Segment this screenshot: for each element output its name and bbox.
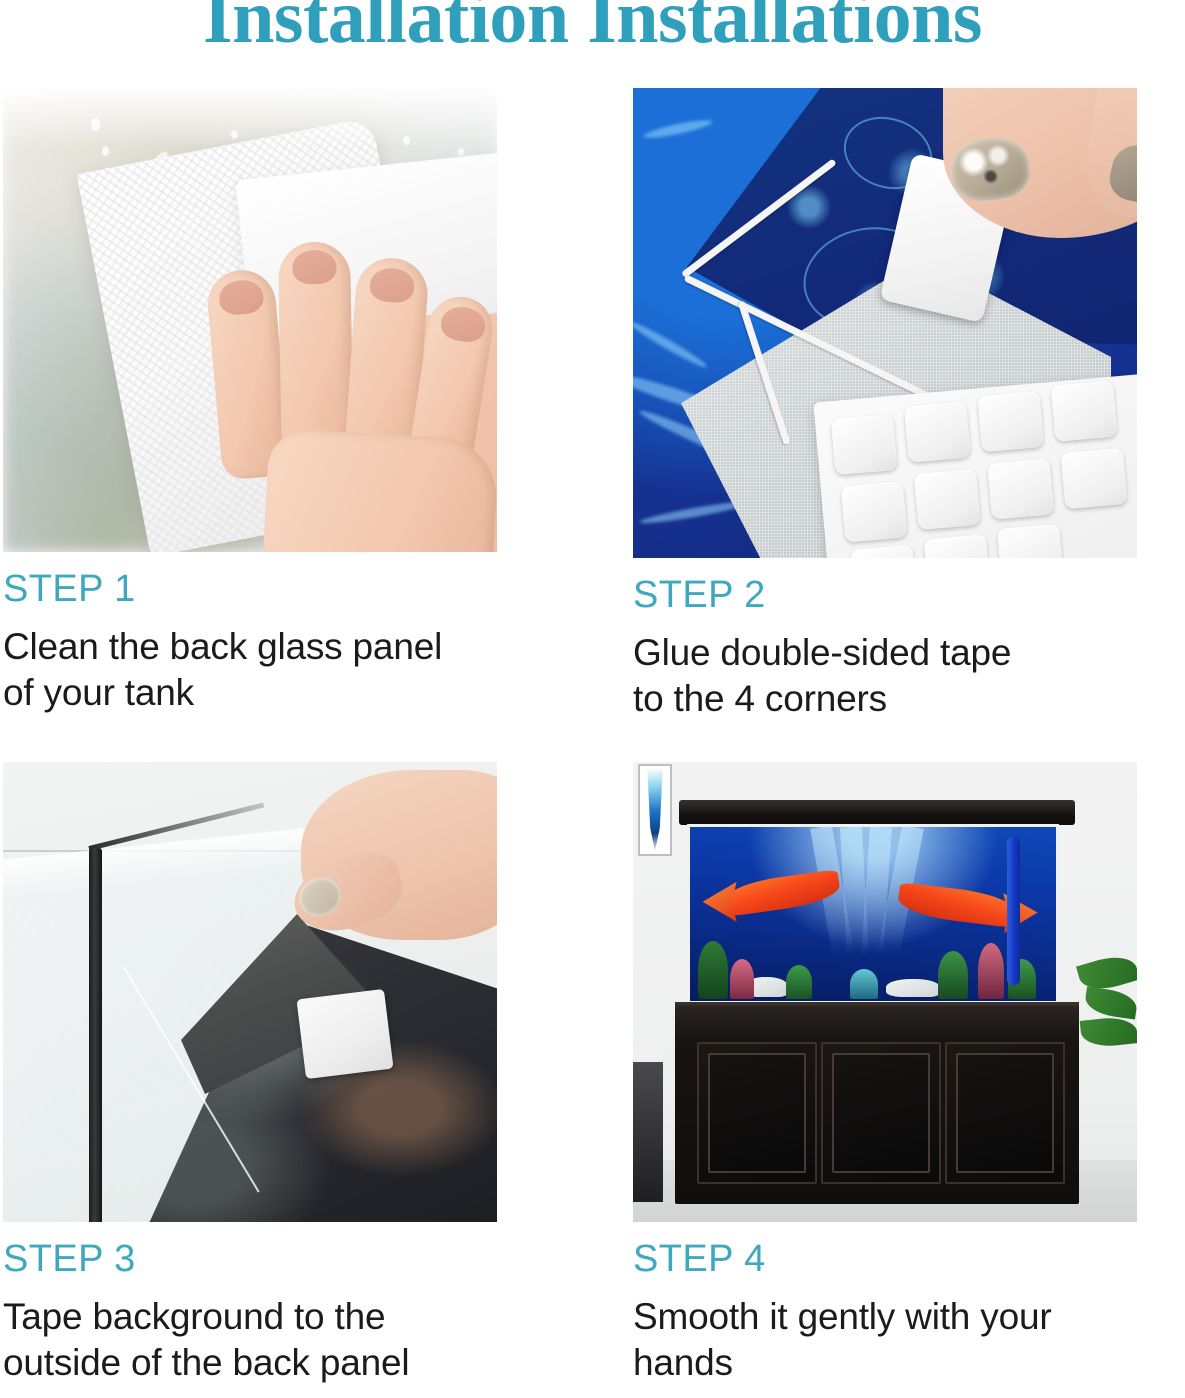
aquarium-tank xyxy=(687,824,1059,1004)
step-3-text: Tape background to the outside of the ba… xyxy=(3,1294,497,1387)
step-1-line-2: of your tank xyxy=(3,670,497,716)
step-3-line-2: outside of the back panel xyxy=(3,1340,497,1386)
step-2-photo xyxy=(633,88,1137,558)
step-2-text: Glue double-sided tape to the 4 corners xyxy=(633,630,1137,723)
step-4-label: STEP 4 xyxy=(633,1240,1137,1280)
step-1-label: STEP 1 xyxy=(3,570,497,610)
aquarium-hood xyxy=(679,800,1075,825)
installation-guide-page: Installation Installations xyxy=(0,0,1185,1398)
decor-rock xyxy=(886,979,940,997)
fingernail xyxy=(369,267,415,304)
step-1-photo xyxy=(3,88,497,552)
double-sided-tape-sheet xyxy=(813,374,1137,558)
aquatic-plant xyxy=(978,943,1004,999)
step-4-photo xyxy=(633,762,1137,1222)
step-1-line-1: Clean the back glass panel xyxy=(3,624,497,670)
fingernail xyxy=(292,250,337,285)
wall-art-frame xyxy=(638,764,672,856)
fingernail xyxy=(218,278,265,316)
aquatic-plant xyxy=(786,965,812,999)
tape-square xyxy=(841,481,908,542)
aquarium-stand xyxy=(675,1006,1079,1204)
aquarium-heater xyxy=(1007,837,1020,985)
page-title: Installation Installations xyxy=(0,0,1185,58)
step-4-line-1: Smooth it gently with your xyxy=(633,1294,1137,1340)
step-3-label: STEP 3 xyxy=(3,1240,497,1280)
tape-square xyxy=(914,469,981,530)
aquatic-plant xyxy=(938,951,968,999)
cabinet-door[interactable] xyxy=(821,1042,941,1184)
step-3-line-1: Tape background to the xyxy=(3,1294,497,1340)
step-card-4: STEP 4 Smooth it gently with your hands xyxy=(633,762,1137,1386)
tape-square xyxy=(987,458,1054,519)
tape-square xyxy=(977,391,1044,452)
tape-square xyxy=(1061,448,1128,509)
step-2-label: STEP 2 xyxy=(633,576,1137,616)
aquatic-plant xyxy=(730,959,754,999)
step-4-text: Smooth it gently with your hands xyxy=(633,1294,1137,1387)
step-card-1: STEP 1 Clean the back glass panel of you… xyxy=(3,88,497,716)
tape-square xyxy=(831,414,898,475)
photo-top-fade xyxy=(3,88,497,148)
tape-square xyxy=(296,989,393,1079)
aquatic-plant xyxy=(698,941,728,999)
step-1-text: Clean the back glass panel of your tank xyxy=(3,624,497,717)
fingernail xyxy=(439,304,488,344)
water-droplet xyxy=(458,148,464,156)
hand xyxy=(168,184,497,552)
side-lamp xyxy=(635,1048,661,1060)
hand-lower xyxy=(259,428,497,552)
cabinet-door[interactable] xyxy=(945,1042,1065,1184)
tape-square xyxy=(850,545,917,558)
wall-art xyxy=(643,769,667,851)
tape-square xyxy=(924,534,991,558)
tape-square xyxy=(904,401,971,462)
step-2-line-1: Glue double-sided tape xyxy=(633,630,1137,676)
step-card-3: STEP 3 Tape background to the outside of… xyxy=(3,762,497,1386)
tape-square xyxy=(997,524,1064,558)
aquatic-plant xyxy=(850,969,878,999)
tape-square xyxy=(1051,381,1118,442)
tank-corner-trim xyxy=(89,848,102,1222)
side-furniture xyxy=(633,1062,663,1202)
step-4-line-2: hands xyxy=(633,1340,1137,1386)
step-2-line-2: to the 4 corners xyxy=(633,676,1137,722)
step-card-2: STEP 2 Glue double-sided tape to the 4 c… xyxy=(633,88,1137,722)
cabinet-door[interactable] xyxy=(697,1042,817,1184)
step-3-photo xyxy=(3,762,497,1222)
